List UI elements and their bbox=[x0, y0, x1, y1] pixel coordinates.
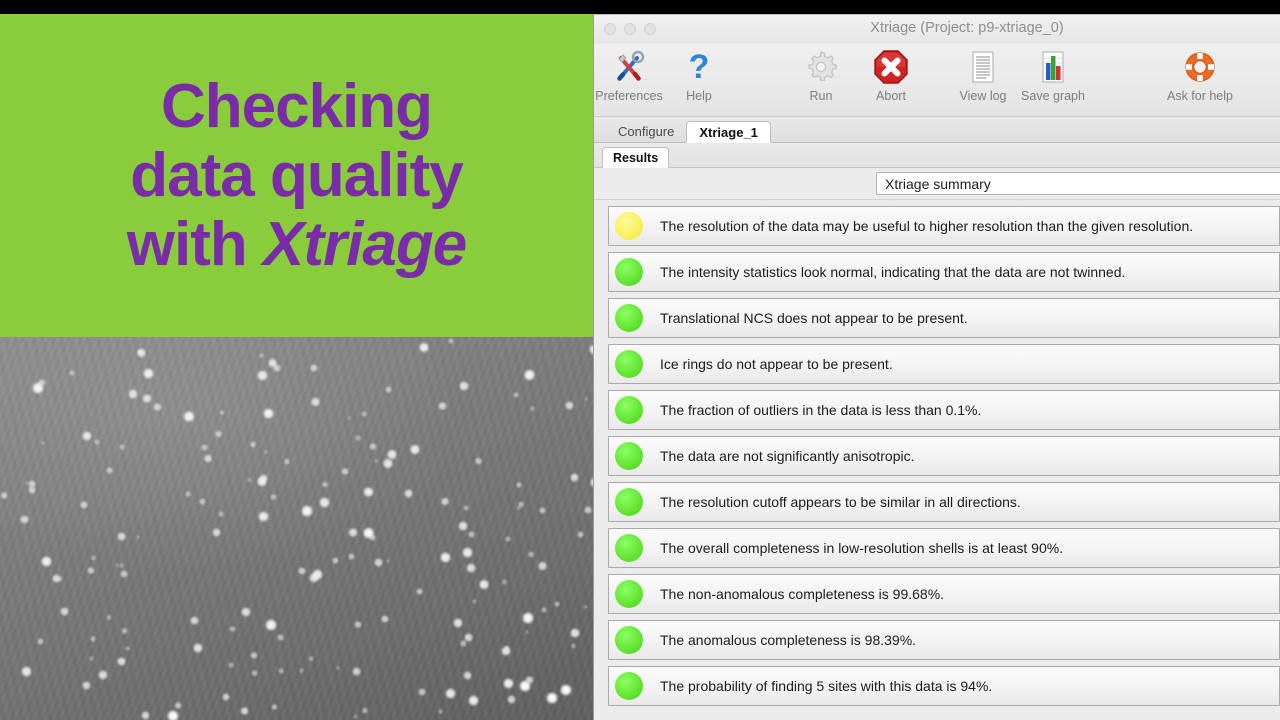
diffraction-spot bbox=[120, 570, 128, 578]
results-list: The resolution of the data may be useful… bbox=[594, 200, 1280, 720]
letterbox-top bbox=[0, 0, 1280, 14]
diffraction-spot bbox=[119, 563, 124, 568]
toolbar-button-abort[interactable]: Abort bbox=[856, 45, 926, 103]
diffraction-spot bbox=[240, 707, 249, 716]
toolbar-button-run[interactable]: Run bbox=[786, 45, 856, 103]
diffraction-spot bbox=[215, 430, 222, 437]
diffraction-spot bbox=[503, 678, 514, 689]
result-row[interactable]: The fraction of outliers in the data is … bbox=[608, 390, 1280, 430]
diffraction-spot bbox=[583, 605, 587, 609]
diffraction-spot bbox=[541, 607, 547, 613]
diffraction-spot bbox=[441, 497, 450, 506]
diffraction-spot bbox=[128, 389, 138, 399]
diffraction-spot bbox=[468, 531, 475, 538]
diffraction-spot bbox=[352, 667, 361, 676]
diffraction-spot bbox=[524, 369, 535, 380]
diffraction-spot bbox=[299, 668, 304, 673]
result-text: The resolution cutoff appears to be simi… bbox=[660, 494, 1021, 510]
diffraction-spot bbox=[121, 628, 127, 634]
toolbar-label-save-graph: Save graph bbox=[1021, 89, 1085, 103]
result-text: Ice rings do not appear to be present. bbox=[660, 356, 893, 372]
status-indicator-green bbox=[615, 534, 643, 562]
diffraction-spot bbox=[87, 567, 95, 575]
diffraction-spot bbox=[90, 636, 96, 642]
diffraction-spot bbox=[381, 615, 389, 623]
diffraction-spot bbox=[190, 616, 199, 625]
result-text: The overall completeness in low-resoluti… bbox=[660, 540, 1063, 556]
diffraction-spot bbox=[355, 435, 361, 441]
status-indicator-green bbox=[615, 350, 643, 378]
diffraction-spot bbox=[348, 528, 358, 538]
diffraction-spot bbox=[250, 441, 257, 448]
toolbar-label-ask-for-help: Ask for help bbox=[1167, 89, 1233, 103]
diffraction-spot bbox=[440, 552, 451, 563]
diffraction-spot bbox=[332, 557, 339, 564]
diffraction-spot bbox=[69, 370, 75, 376]
diffraction-spot bbox=[80, 501, 88, 509]
diffraction-spot bbox=[463, 505, 469, 511]
result-text: The data are not significantly anisotrop… bbox=[660, 448, 914, 464]
diffraction-spot bbox=[117, 657, 127, 667]
diffraction-spot bbox=[119, 444, 125, 450]
diffraction-spot bbox=[538, 561, 547, 570]
diffraction-spot bbox=[571, 643, 576, 648]
diffraction-spot bbox=[89, 656, 94, 661]
stop-octagon-icon bbox=[873, 47, 909, 87]
toolbar-button-help[interactable]: ? Help bbox=[664, 45, 734, 103]
status-indicator-green bbox=[615, 488, 643, 516]
diffraction-spot bbox=[284, 458, 291, 465]
diffraction-spot bbox=[319, 497, 330, 508]
diffraction-spot bbox=[106, 615, 112, 621]
diffraction-spot bbox=[459, 381, 469, 391]
result-row[interactable]: The overall completeness in low-resoluti… bbox=[608, 528, 1280, 568]
slide-title-line-2: data quality bbox=[130, 143, 463, 208]
screenshot-root: Checking data quality with Xtriage Xtria… bbox=[0, 0, 1280, 720]
diffraction-spot bbox=[60, 607, 69, 616]
diffraction-spot bbox=[584, 506, 592, 514]
toolbar-label-help: Help bbox=[686, 89, 712, 103]
diffraction-spot bbox=[363, 487, 374, 498]
diffraction-spot bbox=[193, 643, 203, 653]
diffraction-spot bbox=[419, 342, 430, 353]
diffraction-spot bbox=[301, 505, 313, 517]
diffraction-spot bbox=[513, 392, 519, 398]
diffraction-spot bbox=[463, 671, 472, 680]
status-indicator-yellow bbox=[615, 212, 643, 240]
diffraction-spot bbox=[167, 710, 179, 720]
diffraction-spot bbox=[386, 559, 390, 563]
diffraction-spot bbox=[354, 621, 362, 629]
status-indicator-green bbox=[615, 672, 643, 700]
slide-panel: Checking data quality with Xtriage bbox=[0, 14, 593, 720]
diffraction-spot bbox=[418, 688, 426, 696]
diffraction-spot bbox=[341, 468, 349, 476]
diffraction-spot bbox=[251, 670, 257, 676]
toolbar-button-preferences[interactable]: Preferences bbox=[594, 45, 664, 103]
diffraction-spot bbox=[28, 486, 36, 494]
diffraction-spot bbox=[268, 358, 278, 368]
slide-title-line-3-text: with bbox=[127, 210, 263, 279]
diffraction-spot bbox=[453, 618, 463, 628]
result-row[interactable]: The non-anomalous completeness is 99.68%… bbox=[608, 574, 1280, 614]
diffraction-spot bbox=[479, 579, 490, 590]
diffraction-spot bbox=[570, 628, 580, 638]
diffraction-spot bbox=[153, 403, 161, 411]
result-text: The anomalous completeness is 98.39%. bbox=[660, 632, 916, 648]
diffraction-spot bbox=[464, 633, 473, 642]
diffraction-spot bbox=[91, 555, 97, 561]
diffraction-spot bbox=[137, 348, 146, 357]
diffraction-spot bbox=[259, 353, 264, 358]
toolbar-button-ask-for-help[interactable]: Ask for help bbox=[1150, 45, 1250, 103]
diffraction-spot bbox=[82, 681, 91, 690]
diffraction-spot bbox=[0, 492, 8, 500]
diffraction-spot bbox=[311, 397, 320, 406]
diffraction-spot bbox=[258, 511, 269, 522]
result-text: The resolution of the data may be useful… bbox=[660, 218, 1193, 234]
diffraction-spot bbox=[142, 394, 151, 403]
diffraction-spot bbox=[41, 441, 45, 445]
diffraction-spot bbox=[565, 401, 574, 410]
toolbar-label-run: Run bbox=[810, 89, 833, 103]
toolbar-button-view-log[interactable]: View log bbox=[948, 45, 1018, 103]
diffraction-spot bbox=[458, 521, 468, 531]
toolbar-label-view-log: View log bbox=[959, 89, 1006, 103]
main-tabstrip: Configure Xtriage_1 bbox=[594, 117, 1280, 143]
diffraction-spot bbox=[554, 601, 560, 607]
subtab-results[interactable]: Results bbox=[602, 147, 669, 168]
diffraction-spot bbox=[219, 410, 224, 415]
diffraction-spot bbox=[522, 612, 534, 624]
diffraction-spot bbox=[106, 467, 113, 474]
diffraction-spot bbox=[41, 556, 52, 567]
slide-title-line-3: with Xtriage bbox=[127, 212, 466, 277]
diffraction-spot bbox=[348, 553, 355, 560]
result-row[interactable]: Translational NCS does not appear to be … bbox=[608, 298, 1280, 338]
diffraction-spot bbox=[204, 454, 213, 463]
status-indicator-green bbox=[615, 396, 643, 424]
slide-title-card: Checking data quality with Xtriage bbox=[0, 14, 593, 337]
diffraction-image bbox=[0, 337, 593, 720]
diffraction-spot bbox=[117, 532, 126, 541]
diffraction-spot bbox=[361, 411, 367, 417]
diffraction-spot bbox=[185, 491, 192, 498]
result-text: Translational NCS does not appear to be … bbox=[660, 310, 968, 326]
diffraction-spot bbox=[241, 607, 251, 617]
diffraction-spot bbox=[466, 563, 476, 573]
diffraction-spot bbox=[353, 714, 357, 718]
diffraction-spot bbox=[20, 515, 29, 524]
diffraction-spot bbox=[94, 439, 100, 445]
diffraction-spot bbox=[277, 634, 284, 641]
result-row[interactable]: The probability of finding 5 sites with … bbox=[608, 666, 1280, 706]
diffraction-spot bbox=[278, 668, 284, 674]
diffraction-spot bbox=[260, 474, 268, 482]
status-indicator-green bbox=[615, 304, 643, 332]
slide-title-line-1: Checking bbox=[161, 74, 432, 139]
diffraction-spot bbox=[501, 646, 511, 656]
diffraction-spot bbox=[502, 579, 507, 584]
diffraction-spot bbox=[516, 482, 523, 489]
sub-tabstrip: Results bbox=[594, 143, 1280, 168]
diffraction-spot bbox=[265, 619, 276, 630]
result-text: The non-anomalous completeness is 99.68%… bbox=[660, 586, 944, 602]
tools-icon bbox=[611, 47, 647, 87]
diffraction-spot bbox=[310, 364, 318, 372]
diffraction-spot bbox=[37, 638, 44, 645]
diffraction-noise bbox=[0, 337, 593, 720]
diffraction-spot bbox=[472, 599, 477, 604]
tab-xtriage-1[interactable]: Xtriage_1 bbox=[686, 121, 771, 143]
result-text: The fraction of outliers in the data is … bbox=[660, 402, 981, 418]
diffraction-spot bbox=[385, 386, 392, 393]
document-icon bbox=[965, 47, 1001, 87]
result-row[interactable]: The resolution of the data may be useful… bbox=[608, 206, 1280, 246]
result-row[interactable]: Ice rings do not appear to be present. bbox=[608, 344, 1280, 384]
diffraction-spot bbox=[229, 626, 235, 632]
diffraction-spot bbox=[270, 494, 276, 500]
status-indicator-green bbox=[615, 442, 643, 470]
diffraction-spot bbox=[546, 692, 558, 704]
diffraction-spot bbox=[438, 709, 443, 714]
diffraction-spot bbox=[369, 443, 376, 450]
diffraction-spot bbox=[404, 489, 413, 498]
diffraction-spot bbox=[336, 666, 340, 670]
diffraction-spot bbox=[257, 370, 268, 381]
diffraction-spot bbox=[212, 528, 221, 537]
diffraction-spot bbox=[416, 588, 424, 596]
diffraction-spot bbox=[475, 457, 483, 465]
diffraction-spot bbox=[369, 534, 376, 541]
diffraction-spot bbox=[462, 547, 473, 558]
tab-configure[interactable]: Configure bbox=[606, 120, 686, 142]
diffraction-spot bbox=[528, 551, 535, 558]
diffraction-spot bbox=[374, 558, 383, 567]
diffraction-spot bbox=[539, 507, 546, 514]
diffraction-spot bbox=[438, 402, 447, 411]
toolbar-label-preferences: Preferences bbox=[595, 89, 662, 103]
status-indicator-green bbox=[615, 626, 643, 654]
toolbar-label-abort: Abort bbox=[876, 89, 906, 103]
diffraction-spot bbox=[21, 666, 31, 676]
window-titlebar: Xtriage (Project: p9-xtriage_0) bbox=[594, 15, 1280, 43]
toolbar: Preferences ? Help bbox=[594, 43, 1280, 117]
window-title: Xtriage (Project: p9-xtriage_0) bbox=[594, 20, 1280, 36]
diffraction-spot bbox=[263, 408, 274, 419]
diffraction-spot bbox=[410, 444, 421, 455]
svg-text:?: ? bbox=[689, 49, 710, 85]
life-ring-icon bbox=[1182, 47, 1218, 87]
diffraction-spot bbox=[183, 411, 194, 422]
status-indicator-green bbox=[615, 580, 643, 608]
diffraction-spot bbox=[271, 704, 278, 711]
question-mark-icon: ? bbox=[681, 47, 717, 87]
diffraction-spot bbox=[38, 379, 45, 386]
diffraction-spot bbox=[309, 573, 319, 583]
diffraction-spot bbox=[505, 536, 511, 542]
diffraction-spot bbox=[199, 498, 206, 505]
diffraction-spot bbox=[383, 458, 393, 468]
diffraction-spot bbox=[58, 576, 63, 581]
diffraction-spot bbox=[98, 670, 107, 679]
diffraction-spot bbox=[448, 338, 454, 344]
diffraction-spot bbox=[525, 676, 534, 685]
summary-bar: Xtriage summary bbox=[594, 168, 1280, 200]
result-row[interactable]: The data are not significantly anisotrop… bbox=[608, 436, 1280, 476]
diffraction-spot bbox=[560, 684, 572, 696]
xtriage-summary-field[interactable]: Xtriage summary bbox=[876, 172, 1280, 195]
slide-title-italic-word: Xtriage bbox=[263, 210, 466, 279]
diffraction-spot bbox=[507, 695, 516, 704]
diffraction-spot bbox=[577, 531, 584, 538]
gear-icon bbox=[803, 47, 839, 87]
result-row[interactable]: The intensity statistics look normal, in… bbox=[608, 252, 1280, 292]
diffraction-spot bbox=[143, 368, 154, 379]
result-row[interactable]: The anomalous completeness is 98.39%. bbox=[608, 620, 1280, 660]
diffraction-spot bbox=[25, 481, 29, 485]
bar-chart-icon bbox=[1035, 47, 1071, 87]
diffraction-spot bbox=[570, 473, 579, 482]
result-row[interactable]: The resolution cutoff appears to be simi… bbox=[608, 482, 1280, 522]
xtriage-window: Xtriage (Project: p9-xtriage_0) bbox=[593, 14, 1280, 720]
diffraction-spot bbox=[174, 702, 181, 709]
diffraction-spot bbox=[222, 693, 230, 701]
diffraction-spot bbox=[250, 652, 257, 659]
diffraction-spot bbox=[445, 688, 456, 699]
diffraction-spot bbox=[82, 431, 92, 441]
diffraction-spot bbox=[298, 567, 306, 575]
diffraction-spot bbox=[228, 662, 234, 668]
result-text: The intensity statistics look normal, in… bbox=[660, 264, 1125, 280]
result-text: The probability of finding 5 sites with … bbox=[660, 678, 992, 694]
toolbar-button-save-graph[interactable]: Save graph bbox=[1018, 45, 1088, 103]
diffraction-spot bbox=[308, 656, 314, 662]
diffraction-spot bbox=[141, 711, 150, 720]
diffraction-spot bbox=[201, 444, 208, 451]
status-indicator-green bbox=[615, 258, 643, 286]
diffraction-spot bbox=[362, 707, 368, 713]
diffraction-spot bbox=[468, 695, 479, 706]
diffraction-spot bbox=[322, 481, 329, 488]
